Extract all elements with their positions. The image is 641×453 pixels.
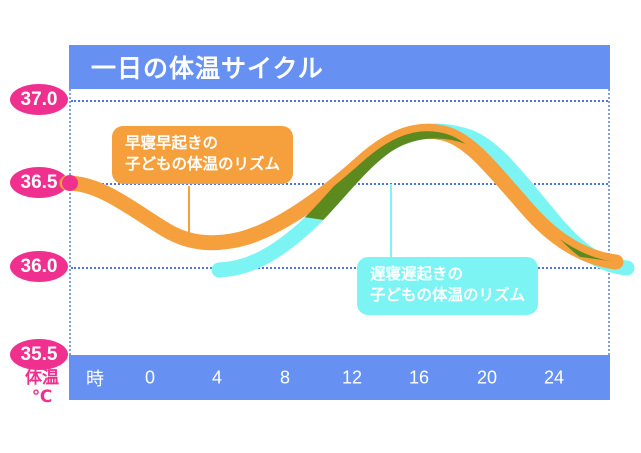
y-axis-caption: 体温 ℃: [14, 368, 70, 406]
x-tick-12: 12: [342, 367, 362, 388]
y-axis-caption-line1: 体温: [14, 368, 70, 387]
callout-leader-late: [390, 184, 392, 259]
x-axis-unit: 時: [86, 365, 104, 391]
callout-early-sleeper: 早寝早起きの 子どもの体温のリズム: [112, 126, 293, 184]
chart-title-bar: 一日の体温サイクル: [69, 45, 610, 89]
y-tick-36-0: 36.0: [10, 251, 68, 282]
x-tick-0: 0: [145, 367, 155, 388]
callout-early-line1: 早寝早起きの: [125, 133, 280, 154]
x-tick-16: 16: [409, 367, 429, 388]
callout-leader-early: [188, 186, 190, 238]
x-tick-8: 8: [280, 367, 290, 388]
y-tick-36-5: 36.5: [10, 167, 68, 198]
callout-late-line2: 子どもの体温のリズム: [370, 285, 525, 306]
y-tick-37-0: 37.0: [10, 84, 68, 115]
x-tick-24: 24: [544, 367, 564, 388]
x-axis-bar: 時 0 4 8 12 16 20 24: [69, 355, 610, 400]
chart-canvas: 一日の体温サイクル 37.0 36.5 36.0 35.5 体温 ℃: [0, 0, 641, 453]
page-title: 一日の体温サイクル: [91, 49, 324, 85]
callout-late-sleeper: 遅寝遅起きの 子どもの体温のリズム: [357, 257, 538, 315]
y-axis-caption-line2: ℃: [14, 387, 70, 406]
curve-start-marker: [62, 175, 78, 191]
y-tick-label: 36.5: [21, 172, 58, 194]
y-tick-label: 37.0: [21, 89, 58, 111]
x-tick-20: 20: [477, 367, 497, 388]
x-tick-4: 4: [212, 367, 222, 388]
callout-early-line2: 子どもの体温のリズム: [125, 154, 280, 175]
y-tick-label: 35.5: [21, 344, 58, 366]
y-tick-35-5: 35.5: [10, 339, 68, 370]
callout-late-line1: 遅寝遅起きの: [370, 264, 525, 285]
y-tick-label: 36.0: [21, 256, 58, 278]
